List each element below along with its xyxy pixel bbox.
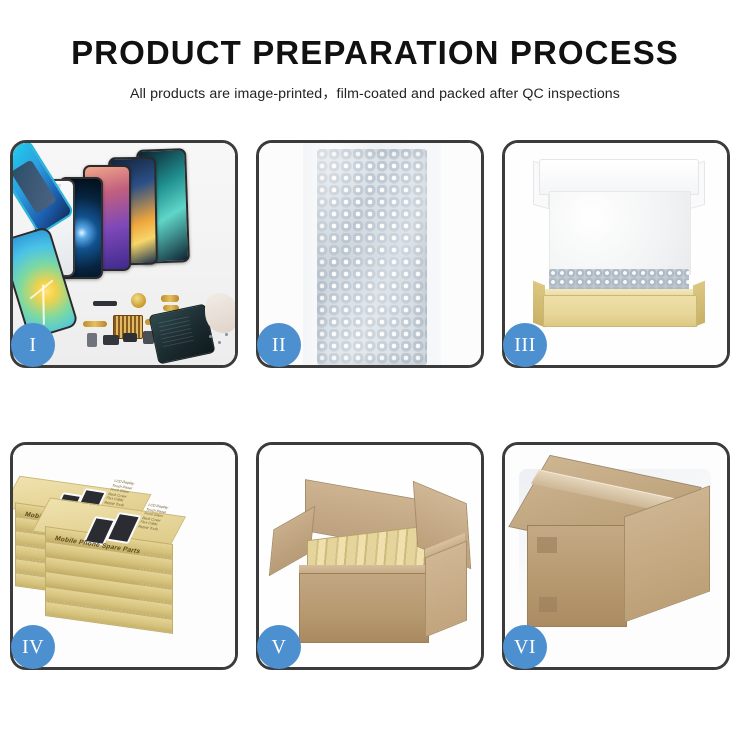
carton-handle-tab-top [537, 537, 557, 553]
hand-icon [205, 293, 235, 333]
part-connector-icon [83, 321, 107, 327]
step-badge-1: I [11, 323, 55, 367]
part-screw-3-icon [225, 333, 228, 336]
part-earpiece-icon [93, 301, 117, 306]
product-preparation-infographic: PRODUCT PREPARATION PROCESS All products… [0, 0, 750, 750]
part-flex-cable-icon [161, 295, 179, 302]
step-badge-3: III [503, 323, 547, 367]
step-badge-5: V [257, 625, 301, 669]
step-panel-3: III [502, 140, 730, 368]
foam-sheet-icon [549, 191, 691, 275]
carton-handle-tab-bottom [539, 597, 557, 612]
part-speaker-icon [131, 293, 146, 308]
step-panel-2: II [256, 140, 484, 368]
part-screw-icon [209, 335, 212, 338]
step-badge-6: VI [503, 625, 547, 669]
header: PRODUCT PREPARATION PROCESS All products… [0, 0, 750, 103]
carton-side-panel [425, 541, 467, 638]
step-badge-2: II [257, 323, 301, 367]
part-module-icon [123, 333, 137, 342]
page-subtitle: All products are image-printed，film-coat… [0, 83, 750, 103]
step-badge-4: IV [11, 625, 55, 669]
step-panel-1: I [10, 140, 238, 368]
mailer-lid [539, 159, 699, 195]
step-panel-6: VI [502, 442, 730, 670]
mailer-front-panel [543, 295, 697, 327]
part-screw-2-icon [218, 341, 221, 344]
step-panel-5: V [256, 442, 484, 670]
bubble-wrap-highlight [317, 149, 427, 365]
part-vibrator-icon [103, 335, 119, 345]
step-panel-4: Mobile Phone Spare Parts LCD Display Tou… [10, 442, 238, 670]
page-title: PRODUCT PREPARATION PROCESS [0, 36, 750, 69]
steps-grid: I II [10, 140, 740, 670]
part-sim-tray-icon [87, 333, 97, 347]
carton-front-panel [299, 573, 429, 643]
